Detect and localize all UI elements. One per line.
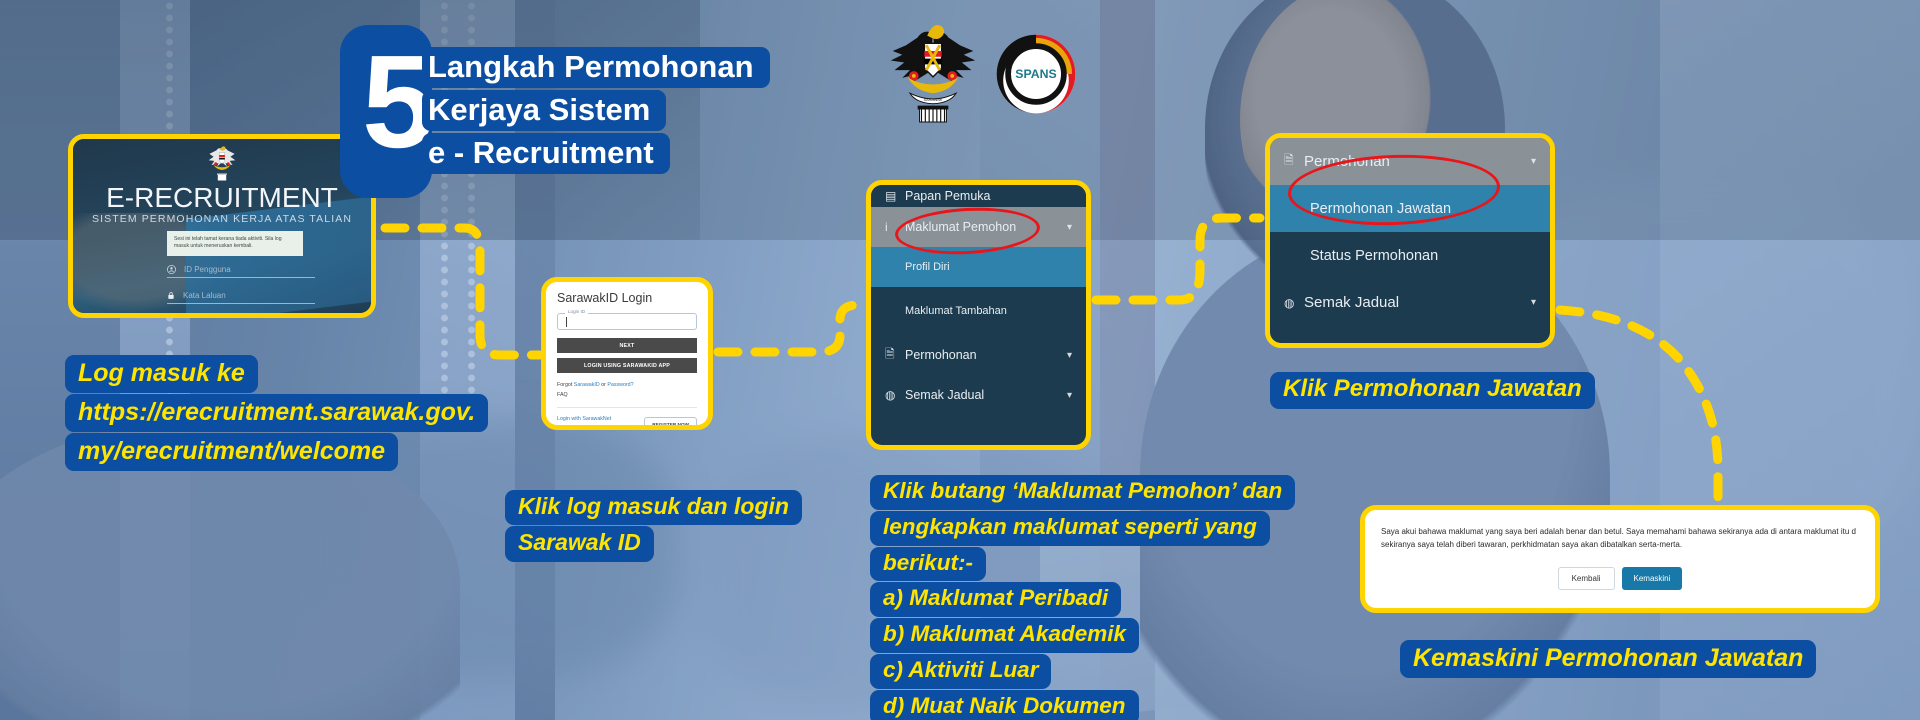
sidebar-item-label: Semak Jadual [905, 388, 1067, 402]
caption-line: lengkapkan maklumat seperti yang [870, 511, 1270, 546]
sarawak-coat-of-arms-icon: SARAWAK [885, 15, 981, 133]
chevron-down-icon: ▾ [1067, 222, 1072, 233]
sarawakid-login-screenshot[interactable]: SarawakID Login Login ID NEXT LOGIN USIN… [541, 277, 713, 430]
sarawakid-app-login-button[interactable]: LOGIN USING SARAWAKID APP [557, 358, 697, 373]
erec-session-notice: Sesi ini telah tamat kerana tiada aktivi… [167, 231, 303, 256]
spans-logo-icon: SPANS [995, 33, 1077, 115]
sidebar-item-maklumat-tambahan[interactable]: Maklumat Tambahan [871, 287, 1086, 335]
document-icon: 🗎 [885, 345, 905, 366]
title-block: 5 Langkah Permohonan Kerjaya Sistem e - … [340, 25, 770, 198]
sidebar-item-status-permohonan[interactable]: Status Permohonan [1270, 232, 1550, 279]
caption-line: https://erecruitment.sarawak.gov. [65, 394, 488, 432]
chevron-down-icon: ▾ [1067, 350, 1072, 361]
erec-login-button[interactable]: Log Masuk [167, 315, 315, 318]
sarawak-crest-small-icon [204, 142, 240, 184]
caption-line: b) Maklumat Akademik [870, 618, 1139, 653]
caption-step-3: Klik butang ‘Maklumat Pemohon’ dan lengk… [870, 475, 1295, 720]
forgot-password-link[interactable]: Password? [607, 382, 633, 388]
sidebar-item-semak-jadual[interactable]: ◍ Semak Jadual ▾ [1270, 279, 1550, 326]
sidebar-item-label: Permohonan [905, 348, 1067, 362]
sidebar-item-label: Status Permohonan [1310, 248, 1536, 264]
caption-line: Sarawak ID [505, 526, 654, 561]
sarawaknet-login-link[interactable]: Login with SarawakNet [557, 414, 621, 424]
caption-line: a) Maklumat Peribadi [870, 582, 1121, 617]
chevron-down-icon: ▾ [1067, 390, 1072, 401]
sidebar-item-papan-pemuka[interactable]: ▤ Papan Pemuka [871, 185, 1086, 207]
caption-line: my/erecruitment/welcome [65, 433, 398, 471]
caption-step-2: Klik log masuk dan login Sarawak ID [505, 490, 802, 563]
caption-line: Log masuk ke [65, 355, 258, 393]
caption-line: d) Muat Naik Dokumen [870, 690, 1139, 720]
erec-title: E-RECRUITMENT [73, 184, 371, 212]
caption-step-5: Kemaskini Permohonan Jawatan [1400, 640, 1816, 679]
kemaskini-confirmation-screenshot[interactable]: Saya akui bahawa maklumat yang saya beri… [1360, 505, 1880, 613]
divider [557, 407, 697, 408]
dashboard-icon: ▤ [885, 189, 905, 203]
caption-line: Klik log masuk dan login [505, 490, 802, 525]
title-line-3: e - Recruitment [422, 133, 670, 174]
forgot-sarawakid-link[interactable]: SarawakID [574, 382, 600, 388]
sidebar-item-label: Profil Diri [905, 261, 1072, 273]
sarawakid-title: SarawakID Login [557, 291, 697, 305]
kemaskini-button[interactable]: Kemaskini [1622, 567, 1683, 590]
sidebar-item-semak-jadual[interactable]: ◍ Semak Jadual ▾ [871, 375, 1086, 415]
sidebar-item-label: Papan Pemuka [905, 189, 1072, 203]
logos-group: SARAWAK SPANS [885, 15, 1077, 133]
text-caret [566, 317, 567, 327]
sidebar-item-label: Semak Jadual [1304, 294, 1531, 311]
sarawakid-next-button[interactable]: NEXT [557, 338, 697, 353]
faq-link[interactable]: FAQ [557, 391, 697, 401]
erec-password-placeholder: Kata Laluan [183, 291, 226, 300]
erec-password-field[interactable]: Kata Laluan [167, 291, 315, 304]
title-line-1: Langkah Permohonan [422, 47, 770, 88]
confirm-text-line-1: Saya akui bahawa maklumat yang saya beri… [1365, 510, 1875, 538]
caption-line: Kemaskini Permohonan Jawatan [1400, 640, 1816, 678]
user-icon [167, 265, 176, 274]
step-count-badge: 5 [340, 25, 432, 198]
forgot-prefix: Forgot [557, 382, 574, 388]
sarawakid-help-links: Forgot SarawakID or Password? FAQ [557, 381, 697, 400]
caption-step-4: Klik Permohonan Jawatan [1270, 372, 1595, 410]
erec-userid-field[interactable]: ID Pengguna [167, 265, 315, 278]
erec-subtitle: SISTEM PERMOHONAN KERJA ATAS TALIAN [73, 213, 371, 225]
clock-icon: ◍ [1284, 296, 1304, 310]
caption-line: Klik Permohonan Jawatan [1270, 372, 1595, 409]
title-lines: Langkah Permohonan Kerjaya Sistem e - Re… [422, 25, 770, 198]
erec-userid-placeholder: ID Pengguna [184, 265, 231, 274]
caption-line: Klik butang ‘Maklumat Pemohon’ dan [870, 475, 1295, 510]
caption-line: berikut:- [870, 547, 986, 582]
register-now-button[interactable]: REGISTER NOW [644, 417, 697, 430]
svg-text:SPANS: SPANS [1015, 67, 1056, 81]
sarawakid-login-id-input[interactable]: Login ID [557, 313, 697, 330]
document-icon: 🗎 [1284, 151, 1304, 172]
forgot-line: Forgot SarawakID or Password? [557, 381, 697, 391]
e-recruitment-login-screenshot[interactable]: E-RECRUITMENT SISTEM PERMOHONAN KERJA AT… [68, 134, 376, 318]
no-account-text: Don't have an account yet? [557, 424, 621, 430]
caption-line: c) Aktiviti Luar [870, 654, 1051, 689]
chevron-down-icon: ▾ [1531, 297, 1536, 308]
sidebar-item-label: Maklumat Tambahan [905, 305, 1072, 317]
lock-icon [167, 291, 175, 300]
chevron-down-icon: ▾ [1531, 156, 1536, 167]
kembali-button[interactable]: Kembali [1558, 567, 1615, 590]
clock-icon: ◍ [885, 388, 905, 402]
svg-text:SARAWAK: SARAWAK [924, 98, 943, 102]
title-line-2: Kerjaya Sistem [422, 90, 666, 131]
confirm-text-line-2: sekiranya saya telah diberi tawaran, per… [1365, 538, 1875, 551]
sidebar-item-permohonan[interactable]: 🗎 Permohonan ▾ [871, 335, 1086, 375]
sarawakid-login-id-label: Login ID [565, 309, 588, 314]
caption-step-1: Log masuk ke https://erecruitment.sarawa… [65, 355, 488, 472]
